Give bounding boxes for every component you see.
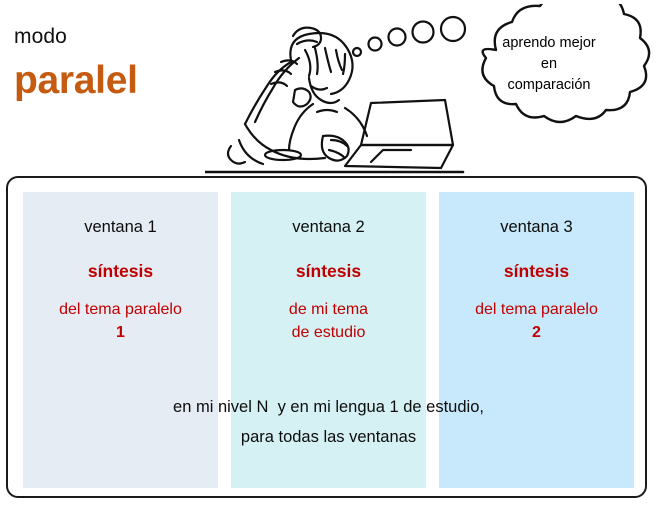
window-description-line1-1: del tema paralelo [59,301,182,318]
mode-name: paralel [14,58,229,104]
panel-caption-line-1: en mi nivel N y en mi lengua 1 de estudi… [23,392,634,422]
window-label-3: ventana 3 [439,216,634,238]
panel-caption: en mi nivel N y en mi lengua 1 de estudi… [23,392,634,452]
window-description-line2-1: 1 [23,321,218,344]
window-description-line2-2: de estudio [231,321,426,344]
window-label-2: ventana 2 [231,216,426,238]
thought-bubble-text: aprendo mejor en comparación [470,33,628,96]
thought-line-2: en [470,54,628,75]
thought-line-1: aprendo mejor [470,33,628,54]
synthesis-label-2: síntesis [231,260,426,282]
window-description-1: del tema paralelo 1 [23,298,218,344]
panel-caption-line-2: para todas las ventanas [23,422,634,452]
window-description-line1-2: de mi tema [289,301,368,318]
thought-line-3: comparación [470,75,628,96]
synthesis-label-3: síntesis [439,260,634,282]
window-description-2: de mi tema de estudio [231,298,426,344]
synthesis-label-1: síntesis [23,260,218,282]
window-description-line2-3: 2 [439,321,634,344]
window-description-line1-3: del tema paralelo [475,301,598,318]
mode-label: modo [14,24,229,50]
window-description-3: del tema paralelo 2 [439,298,634,344]
header-title-block: modo paralel [14,24,229,104]
window-label-1: ventana 1 [23,216,218,238]
